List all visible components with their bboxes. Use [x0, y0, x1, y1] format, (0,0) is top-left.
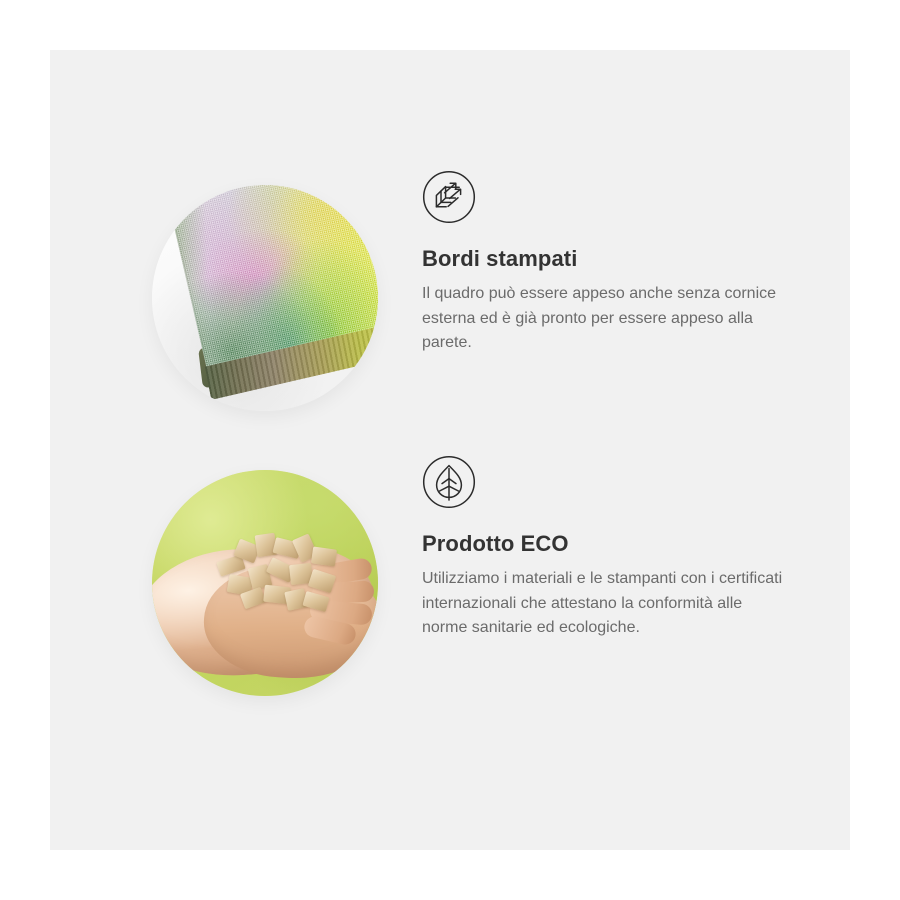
canvas-corner-photo	[152, 185, 378, 411]
wood-chip	[311, 546, 337, 566]
feature-description: Utilizziamo i materiali e le stampanti c…	[422, 567, 790, 641]
wood-chip	[302, 591, 329, 612]
content-panel: Bordi stampati Il quadro può essere appe…	[50, 50, 850, 850]
wood-chip	[308, 569, 336, 594]
wood-chips-in-hands-photo	[152, 470, 378, 696]
feature-prodotto-eco: Prodotto ECO Utilizziamo i materiali e l…	[50, 455, 850, 720]
printed-edges-icon	[422, 170, 476, 224]
feature-copy-bordi-stampati: Bordi stampati Il quadro può essere appe…	[422, 170, 822, 356]
feature-copy-prodotto-eco: Prodotto ECO Utilizziamo i materiali e l…	[422, 455, 822, 641]
product-feature-infographic: Bordi stampati Il quadro può essere appe…	[0, 0, 900, 900]
feature-bordi-stampati: Bordi stampati Il quadro può essere appe…	[50, 170, 850, 430]
feature-title: Prodotto ECO	[422, 531, 822, 557]
leaf-icon	[422, 455, 476, 509]
feature-title: Bordi stampati	[422, 246, 822, 272]
wood-chips-group	[212, 532, 348, 618]
canvas-block	[152, 185, 378, 411]
eco-photo-backdrop	[152, 470, 378, 696]
feature-description: Il quadro può essere appeso anche senza …	[422, 282, 790, 356]
canvas-photo-backdrop	[152, 185, 378, 411]
